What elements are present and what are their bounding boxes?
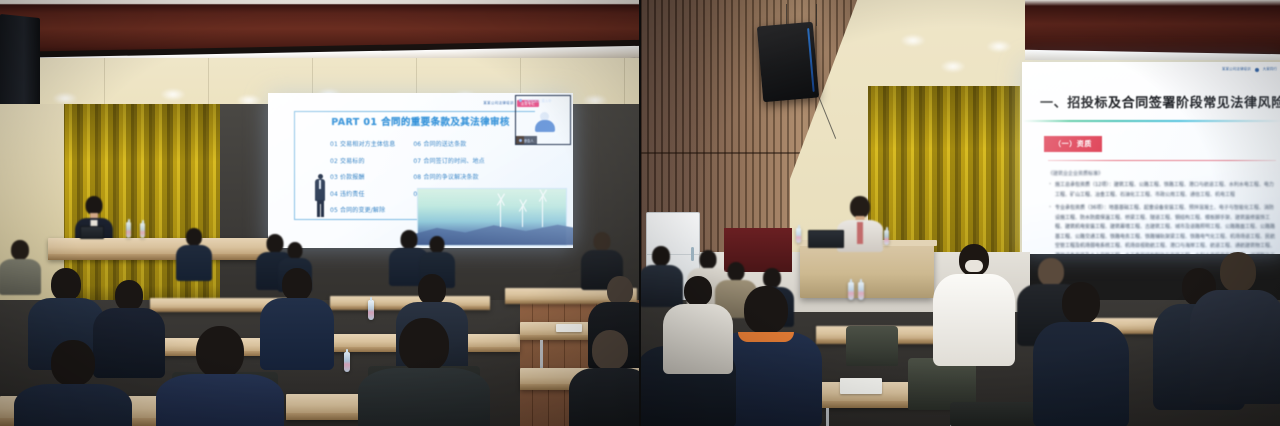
presenter-table [48, 238, 278, 260]
projection-screen: 某某公司法律培训 大家同行 一、招投标及合同签署阶段常见法律风险 （一）资质 《… [1022, 62, 1280, 254]
audience-member [176, 228, 212, 280]
slide-bullet: 专业承包资质（36项）：地基基础工程、起重设备安装工程、预拌混凝土、电子与智能化… [1048, 204, 1278, 254]
water-bottle [848, 282, 854, 300]
audience-member-front [160, 326, 280, 426]
water-bottle [884, 230, 889, 245]
pip-participant-label: 参会人 [524, 138, 534, 143]
pip-header: 云视讯会议 接入中 [516, 96, 570, 105]
audience-member-white-coat [936, 244, 1012, 364]
audience-member-front [18, 340, 128, 426]
orange-collar [738, 332, 794, 342]
legal-risk-slide: 某某公司法律培训 大家同行 一、招投标及合同签署阶段常见法律风险 （一）资质 《… [1022, 62, 1280, 254]
water-bottle [140, 223, 145, 238]
projection-screen: 某某公司法律培训 法务专栏 PART 01 合同的重要条款及其法律审核 01 交… [268, 93, 573, 248]
video-conference-pip[interactable]: 云视讯会议 接入中 参会人 [515, 95, 571, 145]
org-icon [1255, 68, 1259, 72]
clause-item: 01 交易相对方主体信息 [330, 139, 395, 148]
clause-item: 08 合同的争议解决条款 [413, 172, 485, 181]
section-badge: （一）资质 [1044, 136, 1102, 152]
audience-member-front [1038, 282, 1124, 426]
pip-footer: 参会人 [516, 136, 537, 144]
water-bottle [796, 228, 801, 243]
slide-brand-text: 某某公司法律培训 [483, 101, 513, 106]
dual-photo-composite: 某某公司法律培训 法务专栏 PART 01 合同的重要条款及其法律审核 01 交… [0, 0, 1280, 426]
audience-member [666, 276, 730, 372]
audience-member-front [574, 330, 640, 426]
podium [800, 244, 934, 298]
badge-underline [1048, 160, 1276, 161]
slide-column-left: 01 交易相对方主体信息 02 交易标的 03 价款报酬 04 违约责任 05 … [330, 139, 395, 214]
water-bottle [126, 222, 131, 238]
right-room: 某某公司法律培训 大家同行 一、招投标及合同签署阶段常见法律风险 （一）资质 《… [640, 0, 1280, 426]
water-bottle [368, 300, 374, 320]
presenter-laptop [808, 230, 844, 248]
slide-title: 一、招投标及合同签署阶段常见法律风险 [1040, 92, 1278, 111]
right-photo: 某某公司法律培训 大家同行 一、招投标及合同签署阶段常见法律风险 （一）资质 《… [640, 0, 1280, 426]
water-bottle [858, 282, 864, 300]
audience-chair [950, 402, 1036, 426]
ceiling-speaker-box [757, 22, 819, 103]
participant-icon [519, 139, 522, 142]
businessman-silhouette-icon [314, 174, 326, 218]
clause-item: 03 价款报酬 [330, 172, 395, 181]
audience-member-front [362, 318, 486, 426]
slide-brand-text: 某某公司法律培训 [1222, 67, 1251, 72]
water-bottle [344, 352, 350, 372]
pip-title: 云视讯会议 接入中 [524, 98, 551, 103]
slide-brand-bar: 某某公司法律培训 大家同行 [1222, 67, 1277, 72]
audience-member-front [1196, 252, 1280, 402]
clause-item: 04 违约责任 [330, 189, 395, 198]
slide-bullet: 施工总承包资质（12项）：建筑工程、公路工程、铁路工程、港口与航道工程、水利水电… [1048, 181, 1278, 200]
open-notebook [840, 378, 882, 394]
left-photo: 某某公司法律培训 法务专栏 PART 01 合同的重要条款及其法律审核 01 交… [0, 0, 640, 426]
clause-item: 05 合同的变更/解除 [330, 205, 395, 214]
clause-item: 02 交易标的 [330, 156, 395, 165]
slide-body: 《建筑业企业资质标准》 施工总承包资质（12项）：建筑工程、公路工程、铁路工程、… [1048, 170, 1278, 254]
user-icon [519, 99, 522, 102]
photo-divider [639, 0, 641, 426]
slide-brand-org: 大家同行 [1263, 67, 1277, 72]
participant-avatar [534, 112, 556, 132]
slide-divider [1022, 120, 1280, 122]
left-room: 某某公司法律培训 法务专栏 PART 01 合同的重要条款及其法律审核 01 交… [0, 0, 640, 426]
clause-item: 06 合同的送达条款 [413, 139, 485, 148]
audience-chair [846, 326, 898, 366]
clause-item: 07 合同签订的时间、地点 [413, 156, 485, 165]
presenter-laptop [80, 226, 104, 239]
slide-caption: 《建筑业企业资质标准》 [1048, 170, 1278, 177]
